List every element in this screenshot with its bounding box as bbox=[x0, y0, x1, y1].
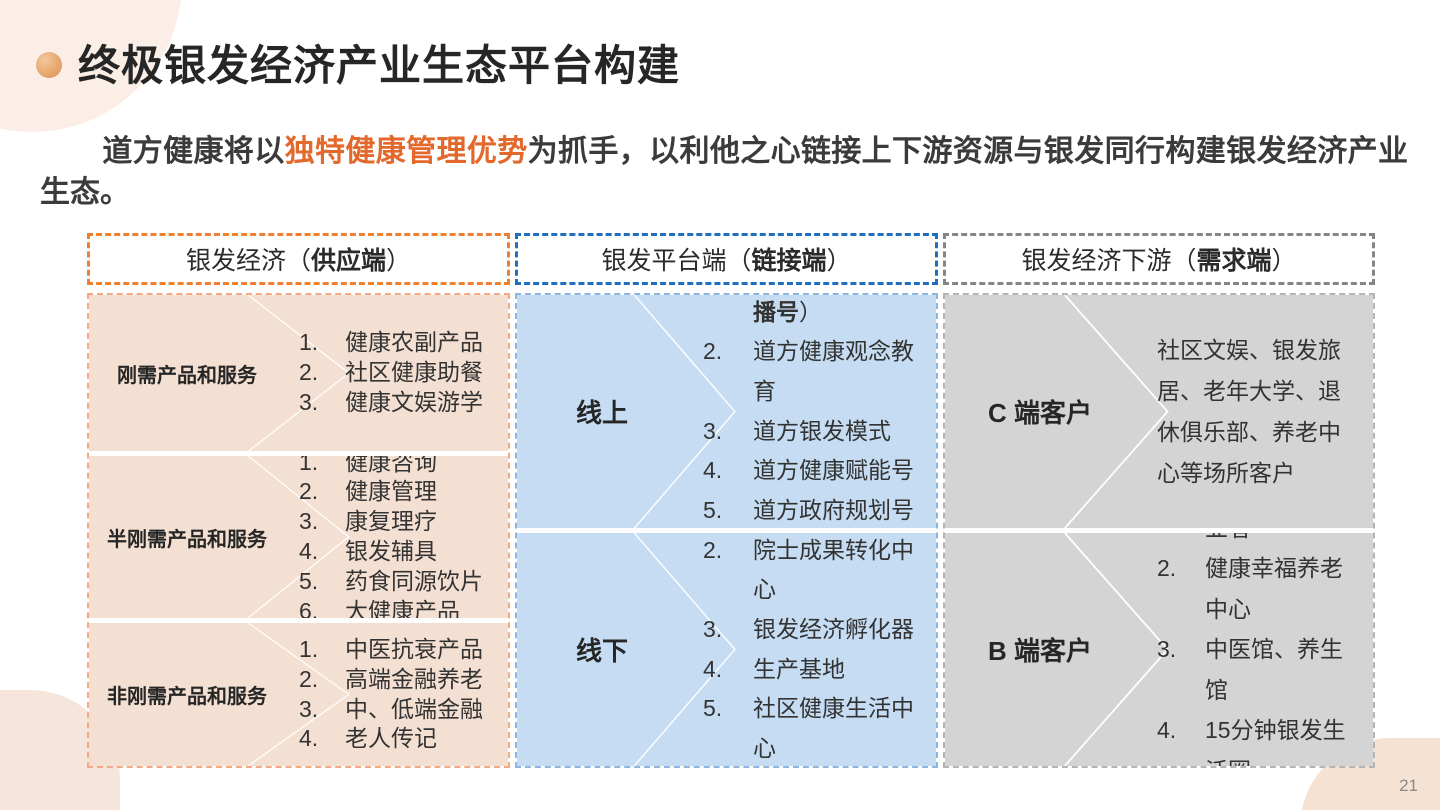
item-text: 健康管理 bbox=[345, 477, 508, 507]
list-item: 4.生产基地 bbox=[703, 650, 936, 690]
list-item: 2.道方健康观念教育 bbox=[703, 332, 936, 411]
item-number: 4. bbox=[703, 650, 753, 690]
header-demand: 银发经济下游（需求端） bbox=[943, 233, 1375, 285]
item-number: 2. bbox=[299, 477, 345, 507]
item-number: 2. bbox=[299, 665, 345, 695]
lead-paragraph: 道方健康将以独特健康管理优势为抓手，以利他之心链接上下游资源与银发同行构建银发经… bbox=[40, 131, 1408, 214]
list-item: 6.大健康产品 bbox=[299, 597, 508, 618]
list-item: 1.健康咨询 bbox=[299, 451, 508, 477]
item-number: 3. bbox=[703, 412, 753, 452]
platform-block-0[interactable]: 线上 1.道方访谈录（直播号） 2.道方健康观念教育 3.道方银发模式 4.道方… bbox=[517, 295, 936, 528]
header-supply-bold: 供应端 bbox=[311, 241, 386, 277]
header-platform-suffix: ） bbox=[827, 241, 852, 277]
demand-block-0-body: 社区文娱、银发旅居、老年大学、退休俱乐部、养老中心等场所客户 bbox=[1135, 295, 1373, 528]
item-text: 老人传记 bbox=[345, 724, 508, 754]
list-item: 2.健康幸福养老中心 bbox=[1157, 548, 1363, 629]
list-item: 3.道方银发模式 bbox=[703, 412, 936, 452]
item-text: 健康咨询 bbox=[345, 451, 508, 477]
item-text: 道方健康赋能号 bbox=[753, 451, 936, 491]
supply-block-0[interactable]: 刚需产品和服务 1.健康农副产品 2.社区健康助餐 3.健康文娱游学 bbox=[89, 295, 508, 451]
header-demand-prefix: 银发经济下游（ bbox=[1021, 241, 1196, 277]
header-platform: 银发平台端（链接端） bbox=[515, 233, 938, 285]
lead-part-1: 道方健康将以 bbox=[102, 135, 285, 168]
item-text: 生产基地 bbox=[753, 650, 936, 690]
item-text: 道方访谈录（直播号） bbox=[753, 295, 936, 332]
item-number: 6. bbox=[299, 597, 345, 618]
supply-block-0-label: 刚需产品和服务 bbox=[89, 295, 285, 451]
list-item: 5.药食同源饮片 bbox=[299, 567, 508, 597]
list-item: 3.中、低端金融 bbox=[299, 695, 508, 725]
item-number: 4. bbox=[703, 451, 753, 491]
bullet-dot-icon bbox=[36, 52, 62, 78]
item-text: 大健康产品 bbox=[345, 597, 508, 618]
item-text: 社区健康生活中心 bbox=[753, 689, 936, 766]
item-text: 道方健康观念教育 bbox=[753, 332, 936, 411]
header-supply-prefix: 银发经济（ bbox=[186, 241, 311, 277]
item-text: 健康文娱游学 bbox=[345, 388, 508, 418]
row-gap-c bbox=[515, 285, 938, 293]
item-number: 3. bbox=[703, 610, 753, 650]
list-item: 3.康复理疗 bbox=[299, 507, 508, 537]
item-text: 道方政府规划号 bbox=[753, 491, 936, 528]
supply-block-1-label: 半刚需产品和服务 bbox=[89, 456, 285, 618]
header-supply-suffix: ） bbox=[386, 241, 411, 277]
supply-block-1-list: 1.健康咨询 2.健康管理 3.康复理疗 4.银发辅具 5.药食同源饮片 6.大… bbox=[299, 451, 508, 618]
item-text: 温江农高园 bbox=[753, 528, 936, 531]
list-item: 3.银发经济孵化器 bbox=[703, 610, 936, 650]
item-number: 4. bbox=[299, 537, 345, 567]
demand-block-1-label: B 端客户 bbox=[945, 533, 1135, 766]
platform-block-0-list: 1.道方访谈录（直播号） 2.道方健康观念教育 3.道方银发模式 4.道方健康赋… bbox=[703, 295, 936, 528]
item-number: 1. bbox=[299, 451, 345, 477]
supply-block-1-body: 1.健康咨询 2.健康管理 3.康复理疗 4.银发辅具 5.药食同源饮片 6.大… bbox=[285, 456, 508, 618]
demand-block-1-body: 1.轻资产健康从业者 2.健康幸福养老中心 3.中医馆、养生馆 4.15分钟银发… bbox=[1135, 533, 1373, 766]
item-number: 5. bbox=[299, 567, 345, 597]
item-text: 健康农副产品 bbox=[345, 328, 508, 358]
demand-block-0[interactable]: C 端客户 社区文娱、银发旅居、老年大学、退休俱乐部、养老中心等场所客户 bbox=[945, 295, 1373, 528]
header-demand-bold: 需求端 bbox=[1196, 241, 1271, 277]
header-supply: 银发经济（供应端） bbox=[87, 233, 510, 285]
list-item: 2.院士成果转化中心 bbox=[703, 531, 936, 610]
supply-block-2-list: 1.中医抗衰产品 2.高端金融养老 3.中、低端金融 4.老人传记 bbox=[299, 635, 508, 755]
column-demand: C 端客户 社区文娱、银发旅居、老年大学、退休俱乐部、养老中心等场所客户 B 端… bbox=[943, 293, 1375, 768]
item-number: 4. bbox=[299, 724, 345, 754]
list-item: 3.中医馆、养生馆 bbox=[1157, 629, 1363, 710]
supply-block-0-list: 1.健康农副产品 2.社区健康助餐 3.健康文娱游学 bbox=[299, 328, 508, 418]
item-number: 1. bbox=[299, 635, 345, 665]
supply-block-0-body: 1.健康农副产品 2.社区健康助餐 3.健康文娱游学 bbox=[285, 295, 508, 451]
item-number: 1. bbox=[299, 328, 345, 358]
platform-block-1-list: 1.温江农高园 2.院士成果转化中心 3.银发经济孵化器 4.生产基地 5.社区… bbox=[703, 528, 936, 766]
page-number: 21 bbox=[1399, 776, 1418, 796]
ecosystem-table: 银发经济（供应端） 银发平台端（链接端） 银发经济下游（需求端） 刚需产品和服务 bbox=[87, 233, 1375, 768]
item-text: 银发经济孵化器 bbox=[753, 610, 936, 650]
list-item: 2.高端金融养老 bbox=[299, 665, 508, 695]
demand-block-1[interactable]: B 端客户 1.轻资产健康从业者 2.健康幸福养老中心 3.中医馆、养生馆 4.… bbox=[945, 528, 1373, 766]
list-item: 4.老人传记 bbox=[299, 724, 508, 754]
supply-block-2[interactable]: 非刚需产品和服务 1.中医抗衰产品 2.高端金融养老 3.中、低端金融 4.老人… bbox=[89, 618, 508, 766]
item-text: 中医抗衰产品 bbox=[345, 635, 508, 665]
item-text: 康复理疗 bbox=[345, 507, 508, 537]
list-item: 4.银发辅具 bbox=[299, 537, 508, 567]
list-item: 5.道方政府规划号 bbox=[703, 491, 936, 528]
supply-block-2-label: 非刚需产品和服务 bbox=[89, 623, 285, 766]
item-number: 3. bbox=[299, 388, 345, 418]
list-item: 4.15分钟银发生活圈 bbox=[1157, 710, 1363, 766]
column-supply: 刚需产品和服务 1.健康农副产品 2.社区健康助餐 3.健康文娱游学 半刚需产品… bbox=[87, 293, 510, 768]
list-item: 3.健康文娱游学 bbox=[299, 388, 508, 418]
item-number: 4. bbox=[1157, 710, 1205, 750]
demand-block-1-list: 1.轻资产健康从业者 2.健康幸福养老中心 3.中医馆、养生馆 4.15分钟银发… bbox=[1157, 528, 1363, 766]
slide-root: 终极银发经济产业生态平台构建 道方健康将以独特健康管理优势为抓手，以利他之心链接… bbox=[0, 0, 1440, 810]
item-text: 社区健康助餐 bbox=[345, 358, 508, 388]
list-item: 1.中医抗衰产品 bbox=[299, 635, 508, 665]
header-demand-suffix: ） bbox=[1272, 241, 1297, 277]
list-item: 1.温江农高园 bbox=[703, 528, 936, 531]
platform-block-1[interactable]: 线下 1.温江农高园 2.院士成果转化中心 3.银发经济孵化器 4.生产基地 5… bbox=[517, 528, 936, 766]
item-number: 2. bbox=[703, 332, 753, 372]
lead-highlight: 独特健康管理优势 bbox=[285, 135, 528, 168]
list-item: 1.轻资产健康从业者 bbox=[1157, 528, 1363, 548]
item-number: 3. bbox=[299, 507, 345, 537]
item-text: 银发辅具 bbox=[345, 537, 508, 567]
platform-block-0-body: 1.道方访谈录（直播号） 2.道方健康观念教育 3.道方银发模式 4.道方健康赋… bbox=[687, 295, 936, 528]
list-item: 2.社区健康助餐 bbox=[299, 358, 508, 388]
item-number: 3. bbox=[1157, 629, 1205, 669]
supply-block-1[interactable]: 半刚需产品和服务 1.健康咨询 2.健康管理 3.康复理疗 4.银发辅具 5.药… bbox=[89, 451, 508, 618]
header-platform-prefix: 银发平台端（ bbox=[601, 241, 751, 277]
item-number: 5. bbox=[703, 491, 753, 528]
platform-block-1-body: 1.温江农高园 2.院士成果转化中心 3.银发经济孵化器 4.生产基地 5.社区… bbox=[687, 533, 936, 766]
list-item: 4.道方健康赋能号 bbox=[703, 451, 936, 491]
list-item: 2.健康管理 bbox=[299, 477, 508, 507]
item-text: 中、低端金融 bbox=[345, 695, 508, 725]
item-text: 高端金融养老 bbox=[345, 665, 508, 695]
item-number: 2. bbox=[1157, 548, 1205, 588]
list-item: 1.健康农副产品 bbox=[299, 328, 508, 358]
list-item: 1.道方访谈录（直播号） bbox=[703, 295, 936, 332]
item-text: 院士成果转化中心 bbox=[753, 531, 936, 610]
item-text-bold: 直播号 bbox=[753, 295, 914, 325]
item-text-tail: ） bbox=[799, 299, 822, 325]
item-number: 1. bbox=[703, 528, 753, 531]
column-platform: 线上 1.道方访谈录（直播号） 2.道方健康观念教育 3.道方银发模式 4.道方… bbox=[515, 293, 938, 768]
platform-block-1-label: 线下 bbox=[517, 533, 687, 766]
platform-block-0-label: 线上 bbox=[517, 295, 687, 528]
header-platform-bold: 链接端 bbox=[751, 241, 826, 277]
item-text: 15分钟银发生活圈 bbox=[1205, 710, 1363, 766]
item-text: 中医馆、养生馆 bbox=[1205, 629, 1363, 710]
page-title: 终极银发经济产业生态平台构建 bbox=[78, 32, 680, 93]
demand-block-0-label: C 端客户 bbox=[945, 295, 1135, 528]
item-number: 2. bbox=[299, 358, 345, 388]
item-number: 3. bbox=[299, 695, 345, 725]
item-text: 药食同源饮片 bbox=[345, 567, 508, 597]
item-text: 健康幸福养老中心 bbox=[1205, 548, 1363, 629]
demand-block-0-paragraph: 社区文娱、银发旅居、老年大学、退休俱乐部、养老中心等场所客户 bbox=[1157, 330, 1363, 494]
row-gap-e bbox=[943, 285, 1375, 293]
item-number: 2. bbox=[703, 531, 753, 571]
item-text: 轻资产健康从业者 bbox=[1205, 528, 1363, 548]
item-text: 道方银发模式 bbox=[753, 412, 936, 452]
list-item: 5.社区健康生活中心 bbox=[703, 689, 936, 766]
row-gap-a bbox=[87, 285, 510, 293]
supply-block-2-body: 1.中医抗衰产品 2.高端金融养老 3.中、低端金融 4.老人传记 bbox=[285, 623, 508, 766]
item-number: 5. bbox=[703, 689, 753, 729]
